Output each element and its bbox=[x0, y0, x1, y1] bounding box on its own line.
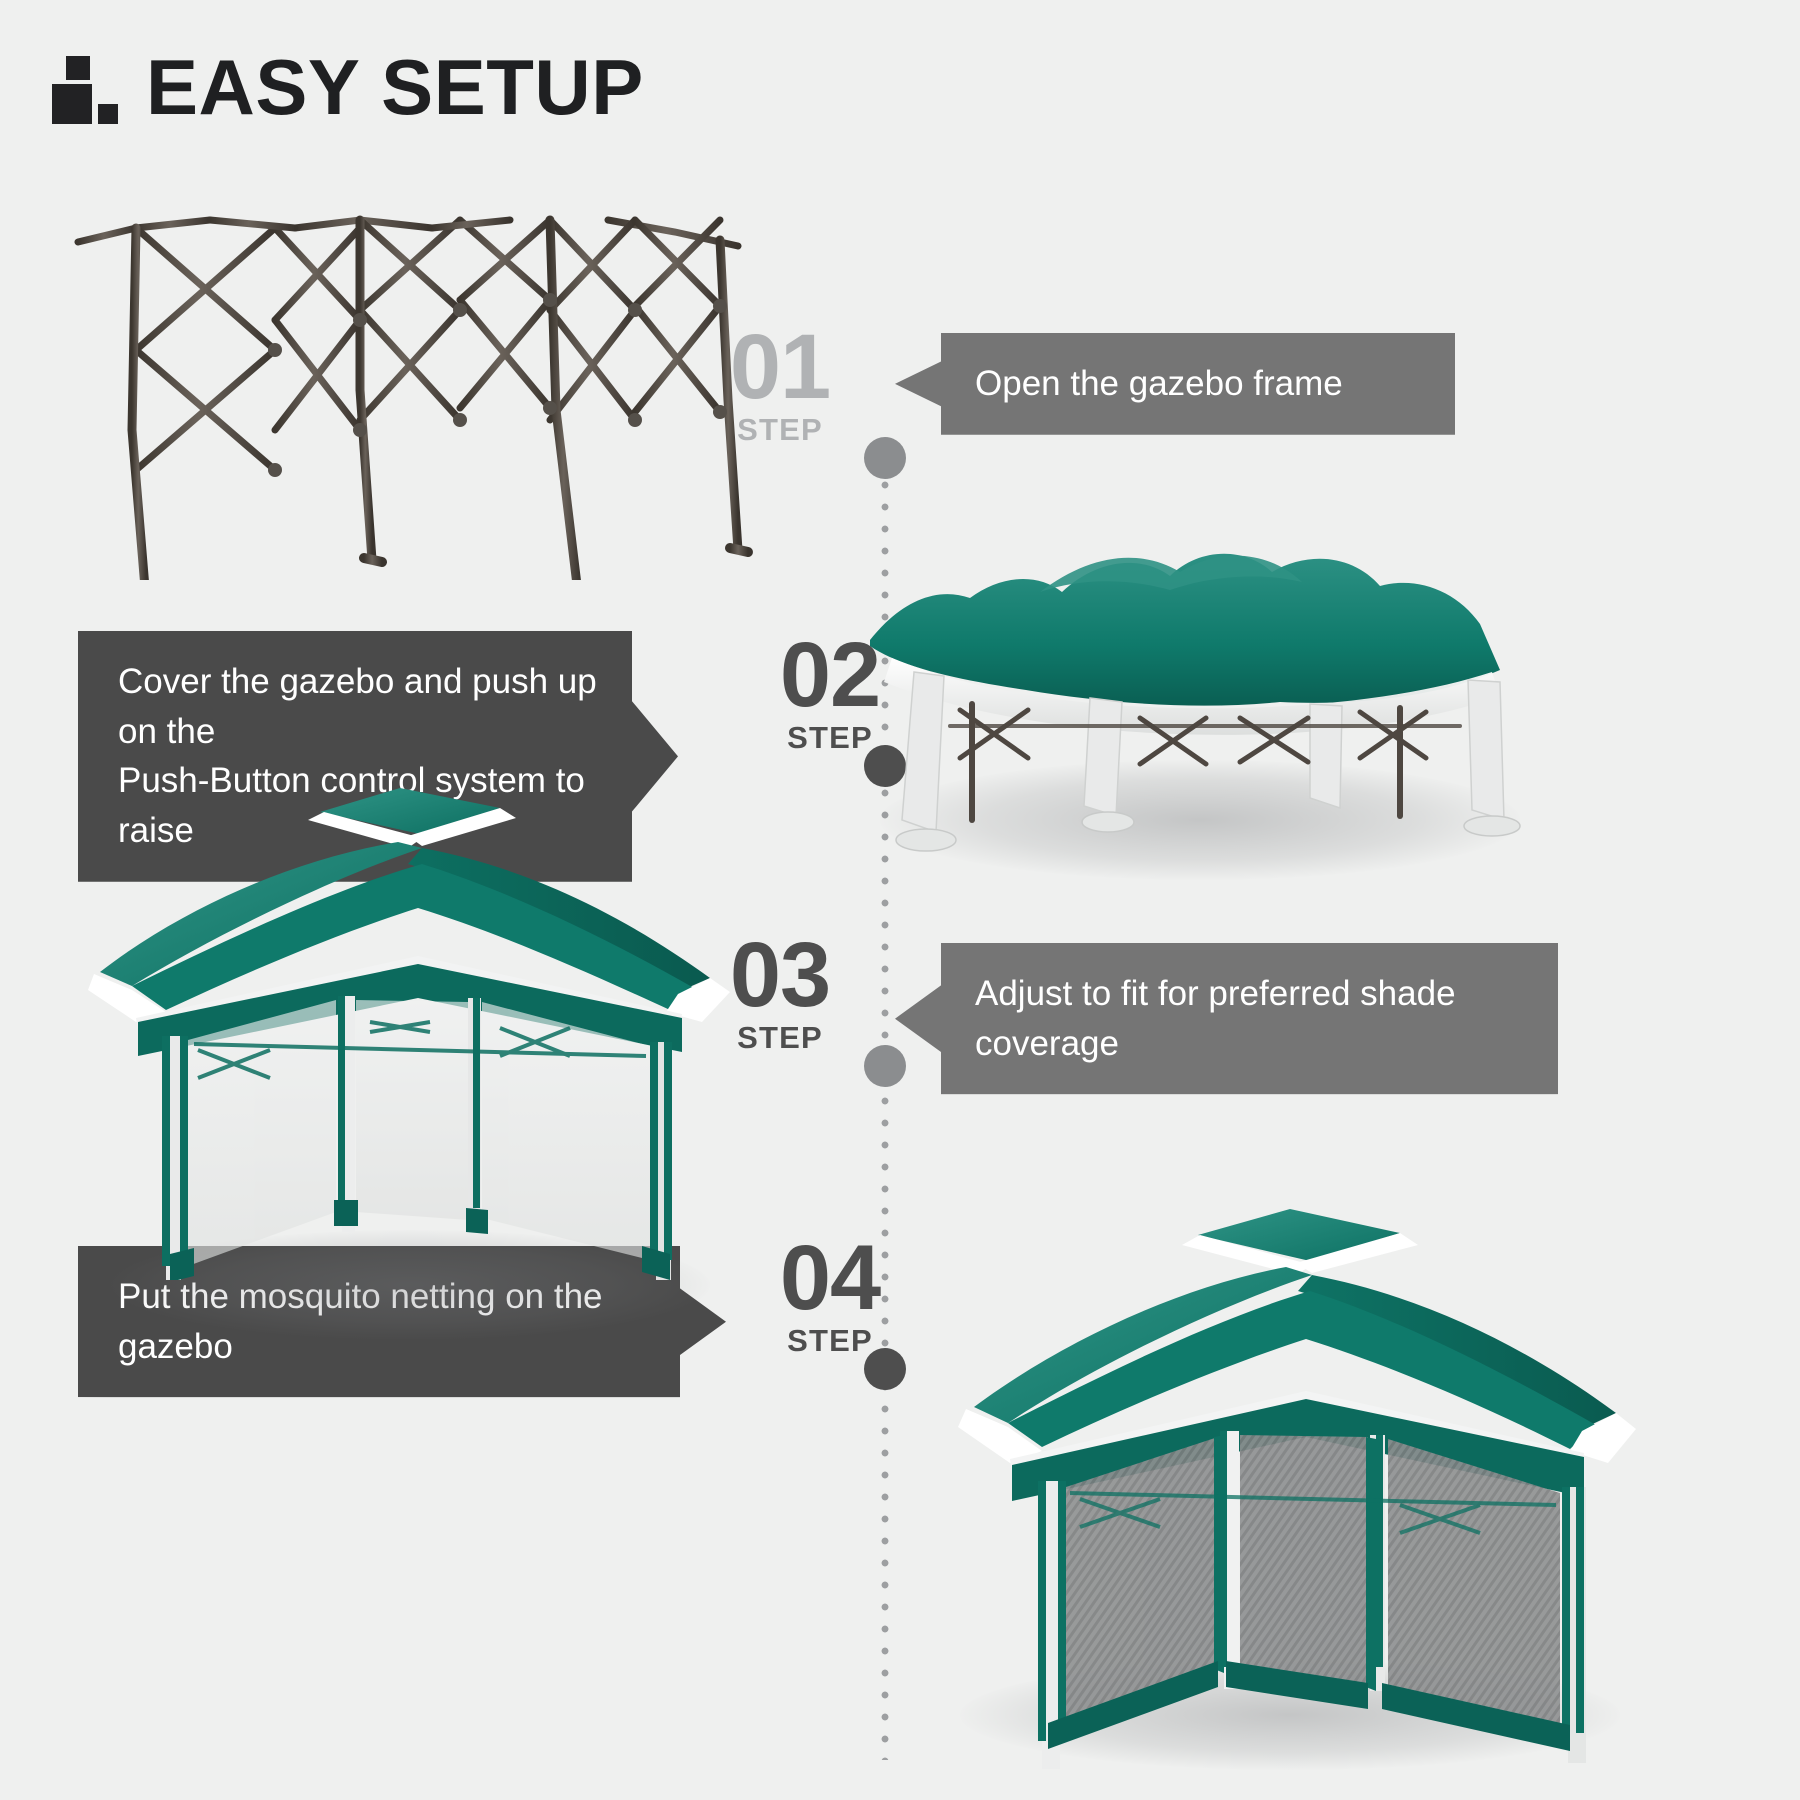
step-number-block-04: 04 STEP bbox=[740, 1236, 920, 1359]
step-dot-03 bbox=[864, 1045, 906, 1087]
page-header: EASY SETUP bbox=[52, 52, 644, 124]
page-title: EASY SETUP bbox=[146, 52, 644, 124]
step-number-04: 04 bbox=[740, 1236, 920, 1321]
logo-square-small bbox=[98, 104, 118, 124]
logo-square-top bbox=[66, 56, 90, 80]
gazebo-with-mosquito-netting-photo bbox=[930, 1175, 1650, 1775]
logo-square-large bbox=[52, 84, 92, 124]
step-dot-01 bbox=[864, 437, 906, 479]
erected-gazebo-photo bbox=[70, 760, 750, 1280]
step-text-04: Put the mosquito netting on the gazebo bbox=[118, 1272, 646, 1371]
step-text-03: Adjust to fit for preferred shade covera… bbox=[975, 969, 1518, 1068]
step-banner-01: Open the gazebo frame bbox=[895, 333, 1455, 435]
folded-gazebo-frame-photo bbox=[60, 180, 780, 580]
step-word-04: STEP bbox=[740, 1323, 920, 1359]
canopy-draped-on-frame-photo bbox=[840, 520, 1560, 890]
three-squares-logo-icon bbox=[52, 52, 120, 124]
step-banner-03: Adjust to fit for preferred shade covera… bbox=[895, 943, 1558, 1094]
step-text-01: Open the gazebo frame bbox=[975, 359, 1343, 409]
